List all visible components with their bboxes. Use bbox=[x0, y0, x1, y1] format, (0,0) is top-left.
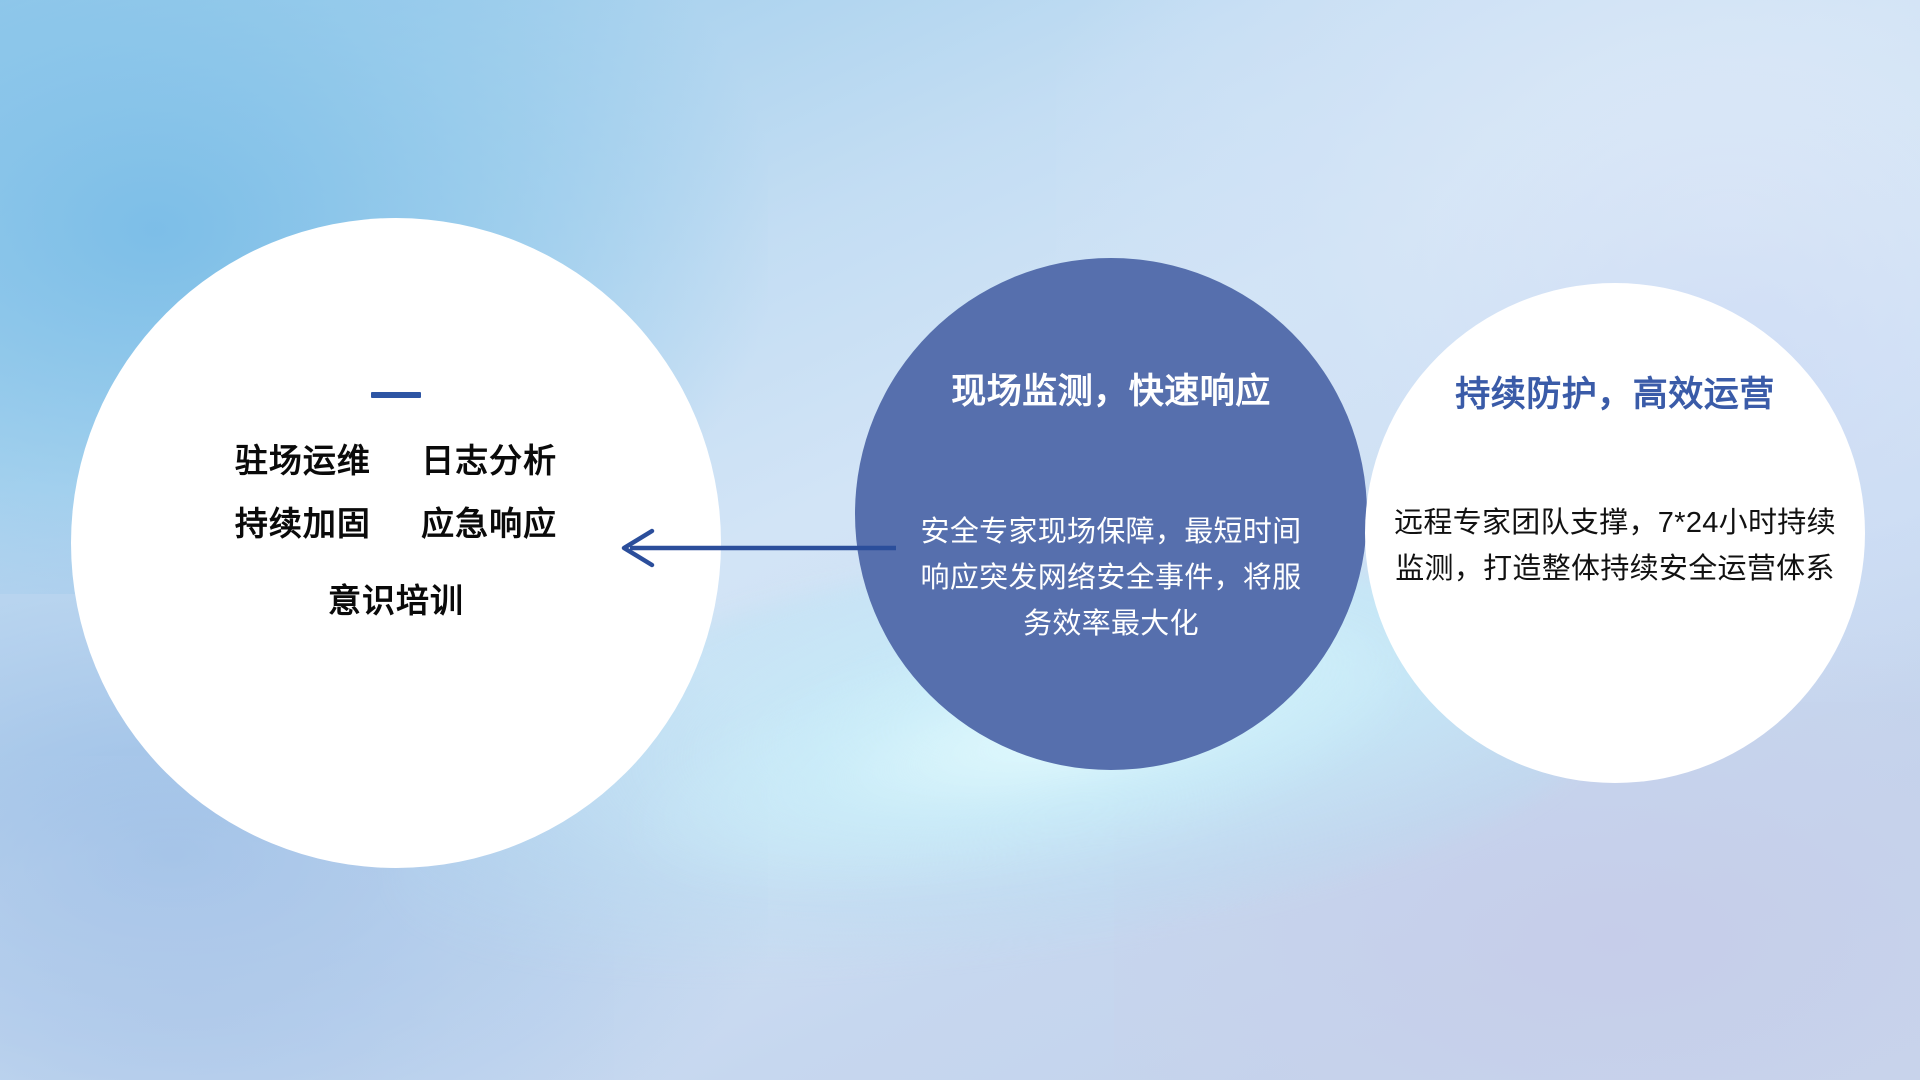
accent-dash-icon bbox=[371, 392, 421, 398]
circle-onsite-monitoring-title: 现场监测，快速响应 bbox=[855, 363, 1367, 414]
capability-label-awareness-training: 意识培训 bbox=[328, 582, 464, 619]
capability-label-onsite-ops: 驻场运维 bbox=[235, 442, 371, 479]
capability-row-3: 意识培训 bbox=[71, 584, 721, 617]
circle-onsite-monitoring-body: 安全专家现场保障，最短时间响应突发网络安全事件，将服务效率最大化 bbox=[907, 510, 1315, 647]
capability-label-continuous-hardening: 持续加固 bbox=[235, 505, 371, 542]
capability-label-log-analysis: 日志分析 bbox=[421, 442, 557, 479]
flow-arrow-left-icon bbox=[596, 518, 896, 578]
circle-continuous-protection: 持续防护，高效运营 远程专家团队支撑，7*24小时持续监测，打造整体持续安全运营… bbox=[1365, 283, 1865, 783]
circle-capabilities-content: 驻场运维 日志分析 持续加固 应急响应 意识培训 bbox=[71, 392, 721, 617]
circle-onsite-monitoring: 现场监测，快速响应 安全专家现场保障，最短时间响应突发网络安全事件，将服务效率最… bbox=[855, 258, 1367, 770]
slide-canvas: 现场监测，快速响应 安全专家现场保障，最短时间响应突发网络安全事件，将服务效率最… bbox=[0, 0, 1920, 1080]
circle-continuous-protection-title: 持续防护，高效运营 bbox=[1365, 366, 1865, 417]
circle-onsite-monitoring-content: 现场监测，快速响应 安全专家现场保障，最短时间响应突发网络安全事件，将服务效率最… bbox=[855, 258, 1367, 770]
circle-continuous-protection-body: 远程专家团队支撑，7*24小时持续监测，打造整体持续安全运营体系 bbox=[1383, 501, 1847, 593]
circle-continuous-protection-content: 持续防护，高效运营 远程专家团队支撑，7*24小时持续监测，打造整体持续安全运营… bbox=[1365, 283, 1865, 783]
capability-label-incident-response: 应急响应 bbox=[421, 505, 557, 542]
capability-row-1: 驻场运维 日志分析 bbox=[71, 444, 721, 477]
